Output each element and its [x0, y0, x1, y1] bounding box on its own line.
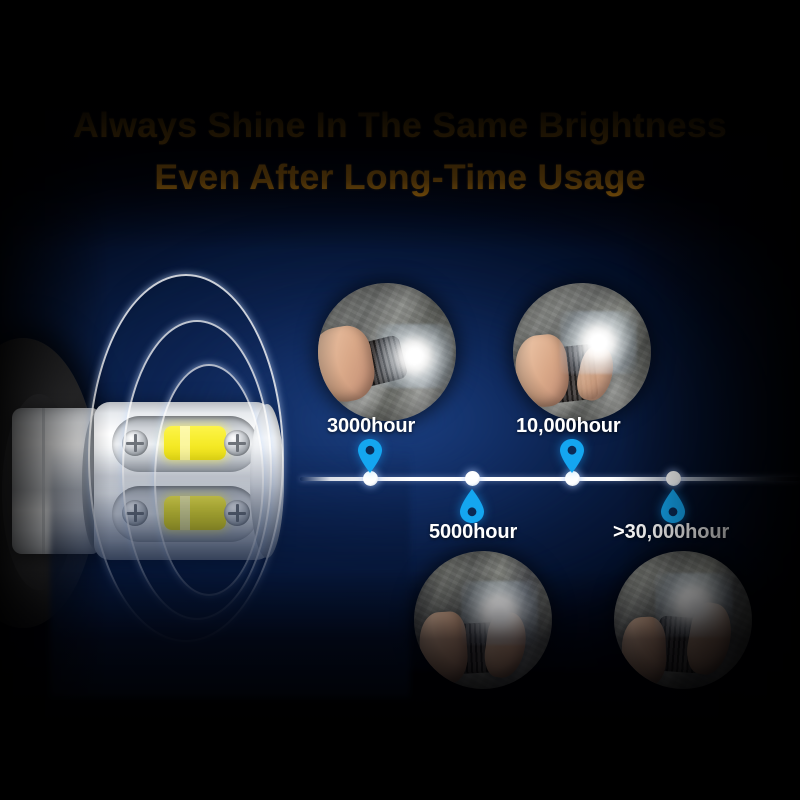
cob-led-chip [164, 496, 226, 530]
timeline-dot[interactable] [465, 471, 480, 486]
photo-vignette [318, 283, 456, 421]
map-pin-icon[interactable] [557, 437, 587, 475]
bulb-barrel [94, 402, 272, 560]
bulb-end-cap [250, 404, 284, 558]
bulb-led-slot-bottom [112, 486, 258, 542]
bulb-led-slot-top [112, 416, 258, 472]
photo-scene [318, 283, 456, 421]
vignette-right [620, 0, 800, 800]
vignette-left [0, 0, 110, 800]
screw-icon [122, 500, 148, 526]
timeline-label-10000hour: 10,000hour [516, 415, 621, 438]
screw-icon [122, 430, 148, 456]
map-pin-inverted-icon[interactable] [457, 487, 487, 525]
map-pin-icon[interactable] [355, 437, 385, 475]
screw-icon [224, 500, 250, 526]
timeline-label-3000hour: 3000hour [327, 415, 415, 438]
screw-icon [224, 430, 250, 456]
cob-led-chip [164, 426, 226, 460]
photo-3000hour [318, 283, 456, 421]
timeline-label-5000hour: 5000hour [429, 521, 517, 544]
promo-image: 3000hour 5000hour 10,000hour >30,000hour… [0, 0, 800, 800]
